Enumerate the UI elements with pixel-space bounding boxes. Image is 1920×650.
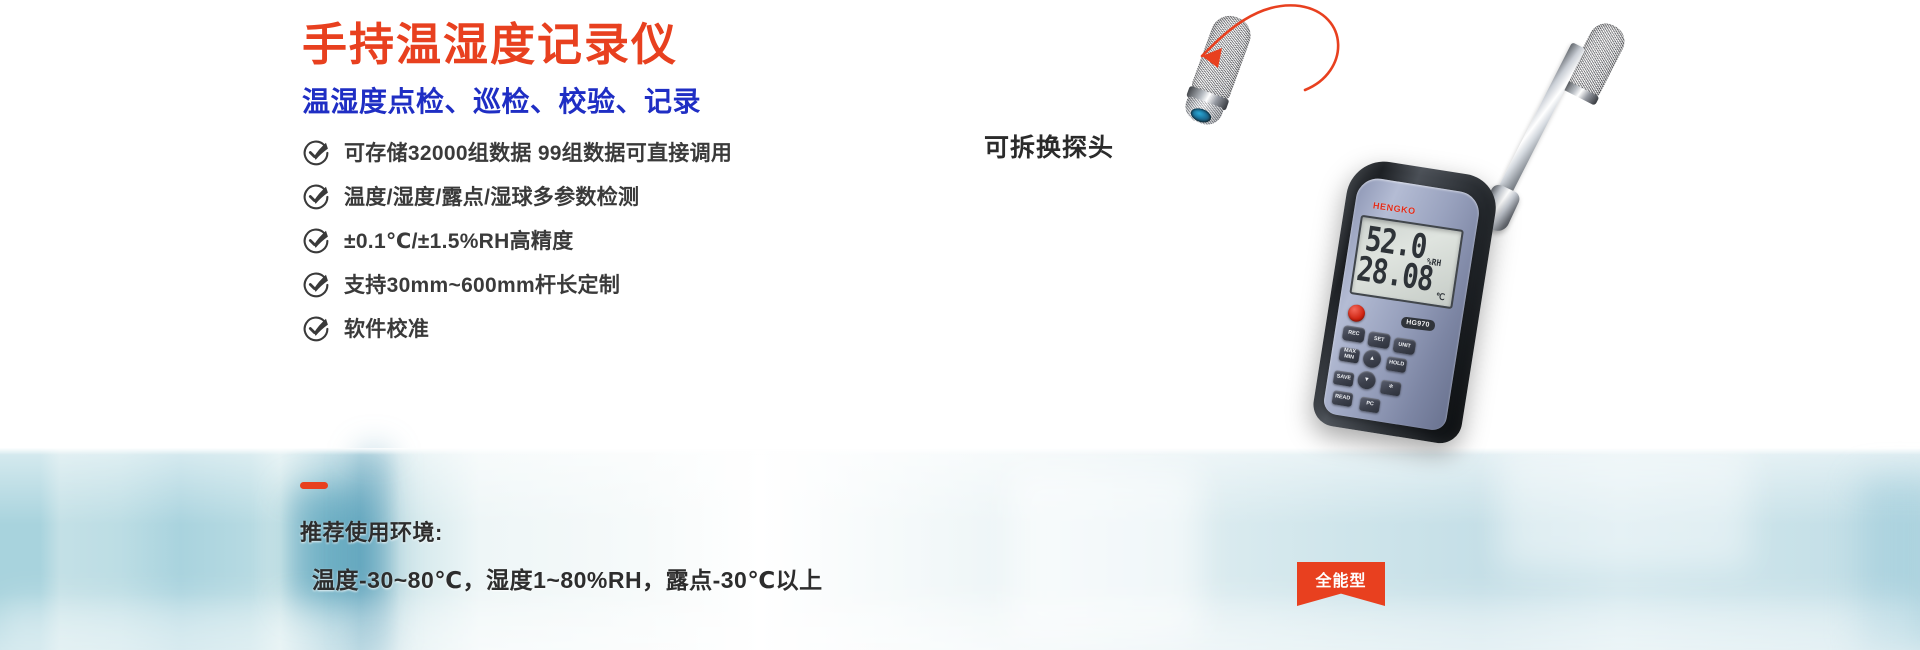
badge-label: 全能型 bbox=[1297, 567, 1385, 591]
meter-key[interactable]: SAVE bbox=[1333, 370, 1355, 387]
list-item: 支持30mm~600mm杆长定制 bbox=[302, 262, 942, 306]
list-item: 软件校准 bbox=[302, 306, 942, 350]
meter-key[interactable]: PC bbox=[1359, 396, 1381, 413]
list-item: 可存储32000组数据 99组数据可直接调用 bbox=[302, 130, 942, 174]
check-circle-icon bbox=[302, 138, 330, 166]
product-zone: 可拆换探头 HENGKO 52.0 %RH 28.08 ℃ HG970 REC bbox=[960, 0, 1920, 650]
feature-list: 可存储32000组数据 99组数据可直接调用 温度/湿度/露点/湿球多参数检测 bbox=[302, 130, 942, 350]
curved-arrow-icon bbox=[1050, 0, 1350, 114]
meter-key[interactable]: ▲ bbox=[1362, 348, 1383, 369]
product-banner: 手持温湿度记录仪 温湿度点检、巡检、校验、记录 可存储32000组数据 99组数… bbox=[0, 0, 1920, 650]
check-circle-icon bbox=[302, 314, 330, 342]
section-divider-dash bbox=[300, 482, 328, 489]
lcd-display: 52.0 %RH 28.08 ℃ bbox=[1349, 215, 1464, 309]
meter-key[interactable]: READ bbox=[1331, 390, 1353, 407]
meter-key[interactable]: MAX MIN bbox=[1338, 347, 1360, 364]
check-circle-icon bbox=[302, 226, 330, 254]
page-subtitle: 温湿度点检、巡检、校验、记录 bbox=[302, 80, 701, 120]
feature-text: ±0.1℃/±1.5%RH高精度 bbox=[344, 225, 574, 255]
temperature-unit: ℃ bbox=[1435, 291, 1445, 302]
meter-key[interactable]: ▼ bbox=[1356, 370, 1377, 391]
page-title: 手持温湿度记录仪 bbox=[302, 8, 678, 73]
check-circle-icon bbox=[302, 182, 330, 210]
meter-key[interactable]: UNIT bbox=[1392, 337, 1416, 355]
environment-detail: 温度-30~80℃，湿度1~80%RH，露点-30℃以上 bbox=[312, 561, 823, 595]
probe-label: 可拆换探头 bbox=[984, 128, 1114, 164]
environment-block: 推荐使用环境: 温度-30~80℃，湿度1~80%RH，露点-30℃以上 bbox=[300, 515, 823, 595]
environment-heading: 推荐使用环境: bbox=[300, 515, 823, 547]
status-badge: 全能型 bbox=[1297, 562, 1385, 606]
meter-keypad: REC SET UNIT ▲ MAX MIN HOLD ▼ SAVE ✻ REA… bbox=[1329, 325, 1451, 427]
meter-key[interactable]: SET bbox=[1367, 331, 1391, 349]
feature-text: 可存储32000组数据 99组数据可直接调用 bbox=[344, 137, 732, 167]
check-circle-icon bbox=[302, 270, 330, 298]
feature-text: 软件校准 bbox=[344, 313, 429, 343]
list-item: 温度/湿度/露点/湿球多参数检测 bbox=[302, 174, 942, 218]
list-item: ±0.1℃/±1.5%RH高精度 bbox=[302, 218, 942, 262]
handheld-meter-image: HENGKO 52.0 %RH 28.08 ℃ HG970 REC SET UN… bbox=[1291, 132, 1575, 466]
feature-text: 支持30mm~600mm杆长定制 bbox=[344, 269, 620, 299]
meter-key[interactable]: REC bbox=[1342, 325, 1366, 343]
feature-text: 温度/湿度/露点/湿球多参数检测 bbox=[344, 181, 639, 211]
meter-key[interactable]: ✻ bbox=[1380, 379, 1402, 396]
meter-key[interactable]: HOLD bbox=[1385, 356, 1407, 373]
